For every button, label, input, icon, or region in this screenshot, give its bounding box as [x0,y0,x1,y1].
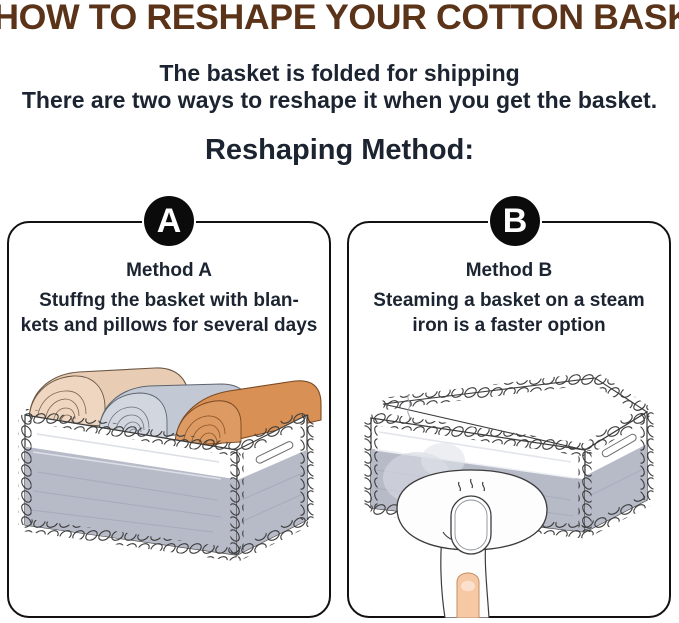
method-a-description-line-2: kets and pillows for several days [7,313,331,338]
subtitle-line-1: The basket is folded for shipping [0,60,679,87]
method-a-title: Method A [7,259,331,283]
method-b-description-line-1: Steaming a basket on a steam [347,288,671,313]
subtitle-line-2: There are two ways to reshape it when yo… [0,87,679,114]
illustration-basket-with-steamer [347,360,671,618]
section-heading: Reshaping Method: [0,133,679,167]
thumb [457,573,479,618]
page-title: HOW TO RESHAPE YOUR COTTON BASKET [0,0,679,38]
garment-steamer [397,470,547,618]
method-b-description-line-2: iron is a faster option [347,313,671,338]
badge-b: B [490,196,540,246]
badge-a: A [144,196,194,246]
method-a-description: Stuffng the basket with blan- kets and p… [7,288,331,338]
illustration-basket-with-blankets [7,360,331,610]
method-b-description: Steaming a basket on a steam iron is a f… [347,288,671,338]
infographic-page: HOW TO RESHAPE YOUR COTTON BASKET The ba… [0,0,679,623]
method-a-description-line-1: Stuffng the basket with blan- [7,288,331,313]
method-b-title: Method B [347,259,671,283]
steamer-vent [451,496,491,554]
